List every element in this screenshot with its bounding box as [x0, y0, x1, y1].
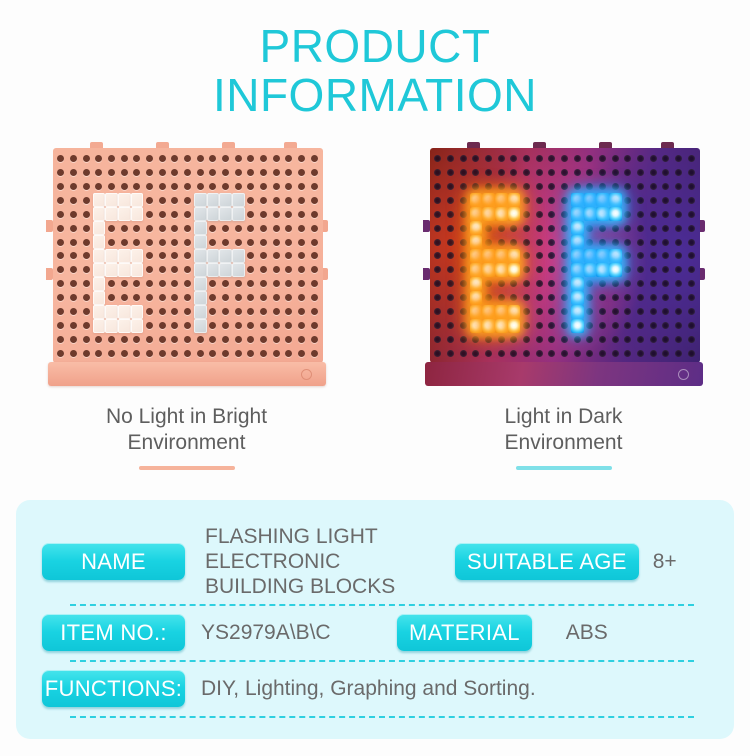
peg-hole	[270, 305, 283, 319]
peg-hole	[156, 333, 169, 347]
peg-hole	[546, 347, 559, 361]
peg-hole	[622, 333, 635, 347]
peg-hole	[558, 319, 571, 333]
peg-hole	[194, 319, 207, 333]
peg-hole	[80, 207, 93, 221]
peg-hole	[118, 263, 131, 277]
peg-hole	[245, 277, 258, 291]
spec-value-name: FLASHING LIGHT ELECTRONIC BUILDING BLOCK…	[205, 524, 455, 600]
peg-hole	[609, 277, 622, 291]
peg-hole	[283, 347, 296, 361]
peg-hole	[634, 221, 647, 235]
peg-hole	[93, 193, 106, 207]
peg-hole	[622, 151, 635, 165]
peg-hole	[495, 263, 508, 277]
peg-hole	[596, 263, 609, 277]
peg-hole	[457, 193, 470, 207]
peg-hole	[55, 277, 68, 291]
peg-hole	[596, 291, 609, 305]
peg-hole	[143, 151, 156, 165]
peg-hole	[232, 291, 245, 305]
peg-hole	[571, 263, 584, 277]
peg-hole	[143, 291, 156, 305]
spec-label-name: NAME	[42, 543, 185, 580]
peg-hole	[232, 207, 245, 221]
peg-hole	[283, 165, 296, 179]
peg-hole	[143, 263, 156, 277]
peg-hole	[660, 221, 673, 235]
peg-hole	[444, 291, 457, 305]
peg-hole	[156, 235, 169, 249]
peg-hole	[685, 179, 698, 193]
peg-hole	[432, 291, 445, 305]
peg-hole	[622, 207, 635, 221]
peg-hole	[232, 193, 245, 207]
peg-hole	[283, 221, 296, 235]
peg-hole	[283, 151, 296, 165]
peg-hole	[105, 151, 118, 165]
peg-hole	[156, 277, 169, 291]
peg-hole	[685, 347, 698, 361]
peg-hole	[295, 207, 308, 221]
peg-hole	[558, 235, 571, 249]
peg-hole	[508, 347, 521, 361]
board-side-tab-icon	[46, 268, 53, 280]
board-side-tab-icon	[46, 220, 53, 232]
peg-hole	[596, 319, 609, 333]
peg-hole	[143, 333, 156, 347]
peg-hole	[634, 151, 647, 165]
peg-hole	[156, 179, 169, 193]
peg-hole	[295, 305, 308, 319]
peg-hole	[660, 263, 673, 277]
peg-hole	[482, 277, 495, 291]
peg-hole	[432, 333, 445, 347]
peg-hole	[520, 333, 533, 347]
peg-hole	[596, 193, 609, 207]
peg-hole	[219, 221, 232, 235]
peg-hole	[508, 305, 521, 319]
peg-hole	[181, 347, 194, 361]
peg-hole	[55, 193, 68, 207]
peg-hole	[308, 193, 321, 207]
peg-hole	[571, 151, 584, 165]
peg-hole	[609, 235, 622, 249]
peg-hole	[444, 207, 457, 221]
peg-hole	[609, 319, 622, 333]
peg-hole	[520, 277, 533, 291]
peg-hole	[584, 221, 597, 235]
peg-hole	[181, 277, 194, 291]
peg-hole	[143, 193, 156, 207]
peg-hole	[634, 263, 647, 277]
peg-hole	[308, 235, 321, 249]
peg-hole	[558, 333, 571, 347]
peg-hole	[558, 263, 571, 277]
peg-hole	[520, 319, 533, 333]
peg-hole	[533, 319, 546, 333]
peg-hole	[308, 179, 321, 193]
peg-hole	[270, 277, 283, 291]
peg-hole	[194, 291, 207, 305]
peg-hole	[520, 263, 533, 277]
peg-hole	[520, 221, 533, 235]
peg-hole	[55, 249, 68, 263]
peg-hole	[80, 291, 93, 305]
peg-hole	[295, 235, 308, 249]
peg-hole	[156, 319, 169, 333]
peg-hole	[80, 193, 93, 207]
peg-hole	[457, 249, 470, 263]
peg-hole	[508, 291, 521, 305]
peg-hole	[245, 193, 258, 207]
peg-hole	[634, 193, 647, 207]
peg-hole	[93, 319, 106, 333]
peg-hole	[444, 277, 457, 291]
peg-hole	[245, 249, 258, 263]
peg-hole	[93, 179, 106, 193]
peg-hole	[660, 319, 673, 333]
peg-hole	[245, 235, 258, 249]
peg-hole	[685, 249, 698, 263]
peg-hole	[67, 179, 80, 193]
peg-hole	[194, 179, 207, 193]
peg-hole	[444, 193, 457, 207]
peg-hole	[470, 347, 483, 361]
peg-hole	[194, 249, 207, 263]
peg-hole	[245, 305, 258, 319]
peg-hole	[432, 263, 445, 277]
peg-hole	[270, 333, 283, 347]
peg-hole	[584, 151, 597, 165]
peg-hole	[571, 333, 584, 347]
spec-value-suitable-age: 8+	[653, 549, 677, 574]
peg-hole	[533, 291, 546, 305]
peg-hole	[207, 277, 220, 291]
peg-hole	[169, 193, 182, 207]
peg-hole	[55, 319, 68, 333]
peg-hole	[257, 235, 270, 249]
peg-hole	[219, 193, 232, 207]
peg-hole	[105, 347, 118, 361]
peg-hole	[647, 179, 660, 193]
peg-hole	[558, 277, 571, 291]
peg-hole	[444, 165, 457, 179]
peg-hole	[533, 235, 546, 249]
page-title: PRODUCT INFORMATION	[0, 0, 750, 120]
caption-bright: No Light in Bright Environment	[106, 404, 267, 455]
peg-hole	[508, 249, 521, 263]
peg-hole	[685, 165, 698, 179]
peg-hole	[181, 235, 194, 249]
product-board-bright	[46, 142, 328, 388]
peg-hole	[457, 277, 470, 291]
peg-hole	[622, 305, 635, 319]
peg-hole	[232, 319, 245, 333]
peg-hole	[432, 207, 445, 221]
peg-hole	[283, 333, 296, 347]
peg-hole	[495, 305, 508, 319]
peg-hole	[131, 207, 144, 221]
peg-hole	[508, 193, 521, 207]
peg-hole	[283, 277, 296, 291]
peg-hole	[584, 235, 597, 249]
peg-hole	[647, 347, 660, 361]
peg-hole	[470, 151, 483, 165]
peg-hole	[118, 319, 131, 333]
peg-hole	[169, 333, 182, 347]
peg-hole	[672, 207, 685, 221]
spec-divider	[70, 716, 694, 718]
peg-hole	[546, 235, 559, 249]
peg-hole	[67, 319, 80, 333]
peg-hole	[270, 235, 283, 249]
caption-bright-line-1: No Light in Bright	[106, 404, 267, 430]
peg-hole	[482, 305, 495, 319]
peg-hole	[571, 347, 584, 361]
peg-hole	[232, 165, 245, 179]
peg-hole	[270, 165, 283, 179]
peg-hole	[169, 179, 182, 193]
peg-hole	[207, 291, 220, 305]
peg-hole	[495, 235, 508, 249]
peg-hole	[660, 277, 673, 291]
peg-hole	[470, 263, 483, 277]
peg-hole	[482, 291, 495, 305]
peg-hole	[232, 235, 245, 249]
product-board-dark	[423, 142, 705, 388]
peg-grid	[430, 148, 700, 363]
peg-hole	[131, 319, 144, 333]
peg-hole	[520, 151, 533, 165]
peg-hole	[55, 151, 68, 165]
peg-hole	[634, 277, 647, 291]
peg-hole	[533, 277, 546, 291]
peg-hole	[571, 207, 584, 221]
peg-hole	[80, 277, 93, 291]
peg-hole	[609, 151, 622, 165]
peg-hole	[67, 333, 80, 347]
peg-hole	[295, 193, 308, 207]
peg-hole	[546, 333, 559, 347]
peg-hole	[194, 347, 207, 361]
peg-hole	[67, 193, 80, 207]
peg-hole	[245, 165, 258, 179]
peg-hole	[156, 291, 169, 305]
peg-hole	[80, 249, 93, 263]
peg-hole	[482, 165, 495, 179]
peg-hole	[634, 319, 647, 333]
peg-hole	[257, 151, 270, 165]
peg-hole	[660, 235, 673, 249]
peg-hole	[647, 235, 660, 249]
peg-hole	[609, 305, 622, 319]
peg-hole	[609, 347, 622, 361]
peg-hole	[67, 221, 80, 235]
peg-hole	[647, 193, 660, 207]
peg-hole	[308, 249, 321, 263]
peg-hole	[181, 207, 194, 221]
peg-hole	[647, 277, 660, 291]
peg-hole	[622, 249, 635, 263]
peg-hole	[520, 305, 533, 319]
peg-hole	[546, 207, 559, 221]
peg-hole	[169, 221, 182, 235]
peg-hole	[533, 249, 546, 263]
peg-hole	[270, 291, 283, 305]
peg-hole	[584, 347, 597, 361]
peg-hole	[295, 249, 308, 263]
peg-hole	[584, 165, 597, 179]
peg-hole	[169, 277, 182, 291]
peg-hole	[93, 291, 106, 305]
peg-hole	[495, 319, 508, 333]
peg-hole	[609, 291, 622, 305]
spec-value-material: ABS	[566, 620, 608, 645]
peg-hole	[105, 221, 118, 235]
peg-hole	[647, 207, 660, 221]
peg-hole	[67, 305, 80, 319]
peg-hole	[245, 333, 258, 347]
peg-hole	[308, 207, 321, 221]
peg-hole	[546, 151, 559, 165]
peg-hole	[93, 263, 106, 277]
peg-hole	[520, 249, 533, 263]
peg-hole	[232, 221, 245, 235]
peg-hole	[118, 347, 131, 361]
peg-hole	[495, 221, 508, 235]
peg-hole	[207, 207, 220, 221]
spec-value-functions: DIY, Lighting, Graphing and Sorting.	[201, 676, 536, 701]
peg-hole	[257, 305, 270, 319]
peg-hole	[270, 263, 283, 277]
peg-hole	[194, 165, 207, 179]
peg-hole	[270, 151, 283, 165]
peg-hole	[457, 207, 470, 221]
peg-hole	[169, 165, 182, 179]
peg-hole	[207, 333, 220, 347]
peg-hole	[672, 333, 685, 347]
peg-hole	[156, 249, 169, 263]
peg-hole	[685, 305, 698, 319]
specification-panel: NAME FLASHING LIGHT ELECTRONIC BUILDING …	[16, 500, 734, 739]
peg-hole	[495, 249, 508, 263]
peg-hole	[270, 319, 283, 333]
peg-hole	[558, 291, 571, 305]
board-base-bright	[48, 362, 326, 386]
peg-hole	[55, 179, 68, 193]
peg-hole	[169, 249, 182, 263]
peg-hole	[647, 333, 660, 347]
peg-hole	[80, 151, 93, 165]
peg-hole	[596, 333, 609, 347]
peg-hole	[482, 193, 495, 207]
peg-hole	[181, 165, 194, 179]
peg-hole	[470, 179, 483, 193]
peg-hole	[444, 305, 457, 319]
peg-hole	[245, 291, 258, 305]
peg-hole	[672, 179, 685, 193]
caption-underline-cyan	[516, 466, 612, 470]
peg-hole	[105, 235, 118, 249]
peg-hole	[67, 347, 80, 361]
peg-hole	[634, 179, 647, 193]
peg-hole	[131, 333, 144, 347]
peg-hole	[571, 165, 584, 179]
peg-hole	[432, 305, 445, 319]
peg-hole	[270, 249, 283, 263]
board-base-dark	[425, 362, 703, 386]
peg-hole	[131, 179, 144, 193]
peg-hole	[495, 207, 508, 221]
peg-hole	[181, 221, 194, 235]
peg-hole	[257, 291, 270, 305]
peg-hole	[647, 249, 660, 263]
peg-hole	[257, 249, 270, 263]
peg-hole	[432, 249, 445, 263]
peg-hole	[432, 193, 445, 207]
peg-hole	[232, 249, 245, 263]
peg-hole	[219, 235, 232, 249]
peg-hole	[245, 151, 258, 165]
peg-hole	[596, 305, 609, 319]
peg-hole	[118, 235, 131, 249]
peg-hole	[156, 193, 169, 207]
peg-hole	[93, 235, 106, 249]
peg-hole	[245, 207, 258, 221]
peg-hole	[533, 347, 546, 361]
peg-hole	[245, 221, 258, 235]
peg-hole	[672, 319, 685, 333]
peg-hole	[270, 193, 283, 207]
peg-hole	[308, 319, 321, 333]
peg-hole	[181, 305, 194, 319]
peg-hole	[156, 151, 169, 165]
peg-hole	[295, 319, 308, 333]
peg-hole	[308, 221, 321, 235]
peg-hole	[584, 291, 597, 305]
peg-hole	[546, 179, 559, 193]
peg-hole	[143, 305, 156, 319]
peg-hole	[444, 333, 457, 347]
peg-hole	[457, 319, 470, 333]
peg-hole	[131, 151, 144, 165]
peg-hole	[295, 165, 308, 179]
peg-hole	[685, 333, 698, 347]
peg-hole	[118, 277, 131, 291]
peg-hole	[508, 235, 521, 249]
peg-hole	[143, 249, 156, 263]
peg-hole	[131, 347, 144, 361]
spec-label-item-no: ITEM NO.:	[42, 614, 185, 651]
peg-hole	[270, 221, 283, 235]
peg-hole	[596, 249, 609, 263]
peg-hole	[520, 193, 533, 207]
peg-hole	[232, 179, 245, 193]
peg-hole	[508, 263, 521, 277]
peg-hole	[596, 221, 609, 235]
peg-hole	[207, 221, 220, 235]
peg-hole	[444, 235, 457, 249]
page-title-line-1: PRODUCT	[0, 22, 750, 71]
peg-hole	[596, 207, 609, 221]
peg-hole	[245, 263, 258, 277]
peg-hole	[685, 235, 698, 249]
peg-hole	[80, 165, 93, 179]
peg-hole	[482, 151, 495, 165]
peg-hole	[634, 305, 647, 319]
peg-hole	[270, 179, 283, 193]
